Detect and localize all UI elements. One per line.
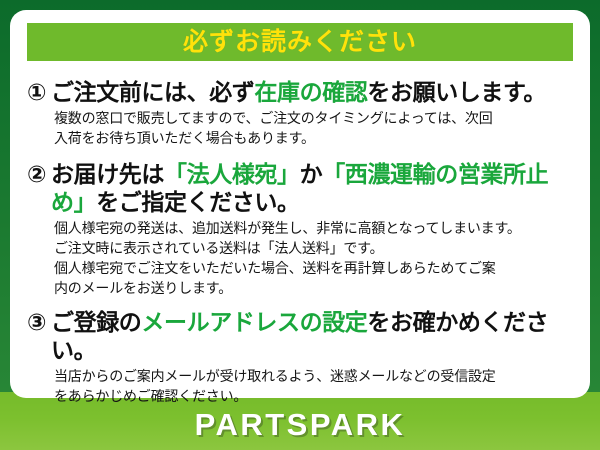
notice-item-1-number: ① bbox=[27, 78, 51, 106]
notice-item-3-heading-text-1: ご登録の bbox=[51, 309, 141, 335]
notice-item-1-highlight: 在庫の確認 bbox=[254, 79, 367, 105]
brand-name: PARTSPARK bbox=[195, 409, 406, 440]
notice-item-2-body-line-2: ご注文時に表示されている送料は「法人送料」です。 bbox=[54, 239, 576, 259]
notice-item-2-heading: ②お届け先は「法人様宛」か「西濃運輸の営業所止め」をご指定ください。 bbox=[27, 160, 576, 216]
notice-item-2-highlight-1: 「法人様宛」 bbox=[164, 161, 300, 187]
notice-item-3-heading: ③ご登録のメールアドレスの設定をお確かめください。 bbox=[27, 308, 576, 364]
notice-item-2-heading-text-1: お届け先は bbox=[51, 161, 164, 187]
notice-item-3: ③ご登録のメールアドレスの設定をお確かめください。 当店からのご案内メールが受け… bbox=[10, 308, 590, 407]
notice-item-2-body: 個人様宅宛の発送は、追加送料が発生し、非常に高額となってしまいます。 ご注文時に… bbox=[54, 219, 576, 299]
notice-item-3-number: ③ bbox=[27, 308, 51, 336]
notice-item-1-body-line-1: 複数の窓口で販売してますので、ご注文のタイミングによっては、次回 bbox=[54, 109, 576, 129]
notice-item-2-heading-text-2: をご指定ください。 bbox=[96, 189, 299, 215]
notice-item-2: ②お届け先は「法人様宛」か「西濃運輸の営業所止め」をご指定ください。 個人様宅宛… bbox=[10, 160, 590, 299]
notice-item-3-highlight: メールアドレスの設定 bbox=[141, 309, 367, 335]
notice-item-1-body-line-2: 入荷をお待ち頂いただく場合もあります。 bbox=[54, 129, 576, 149]
content-card: 必ずお読みください ①ご注文前には、必ず在庫の確認をお願いします。 複数の窓口で… bbox=[10, 10, 590, 398]
notice-item-2-body-line-4: 内のメールをお送りします。 bbox=[54, 279, 576, 299]
notice-list: ①ご注文前には、必ず在庫の確認をお願いします。 複数の窓口で販売してますので、ご… bbox=[10, 70, 590, 407]
page-title: 必ずお読みください bbox=[183, 30, 417, 55]
title-bar: 必ずお読みください bbox=[27, 23, 573, 61]
notice-item-1: ①ご注文前には、必ず在庫の確認をお願いします。 複数の窓口で販売してますので、ご… bbox=[10, 78, 590, 149]
notice-item-2-heading-middle: か bbox=[300, 161, 323, 187]
notice-item-2-body-line-3: 個人様宅宛でご注文をいただいた場合、送料を再計算しあらためてご案 bbox=[54, 259, 576, 279]
notice-item-1-heading-text-1: ご注文前には、必ず bbox=[51, 79, 254, 105]
notice-banner: 必ずお読みください ①ご注文前には、必ず在庫の確認をお願いします。 複数の窓口で… bbox=[0, 0, 600, 450]
notice-item-1-heading: ①ご注文前には、必ず在庫の確認をお願いします。 bbox=[27, 78, 576, 106]
notice-item-1-heading-text-2: をお願いします。 bbox=[367, 79, 546, 105]
notice-item-2-body-line-1: 個人様宅宛の発送は、追加送料が発生し、非常に高額となってしまいます。 bbox=[54, 219, 576, 239]
notice-item-3-body-line-1: 当店からのご案内メールが受け取れるよう、迷惑メールなどの受信設定 bbox=[54, 367, 576, 387]
notice-item-1-body: 複数の窓口で販売してますので、ご注文のタイミングによっては、次回 入荷をお待ち頂… bbox=[54, 109, 576, 149]
notice-item-2-number: ② bbox=[27, 160, 51, 188]
brand-footer: PARTSPARK bbox=[0, 398, 600, 450]
